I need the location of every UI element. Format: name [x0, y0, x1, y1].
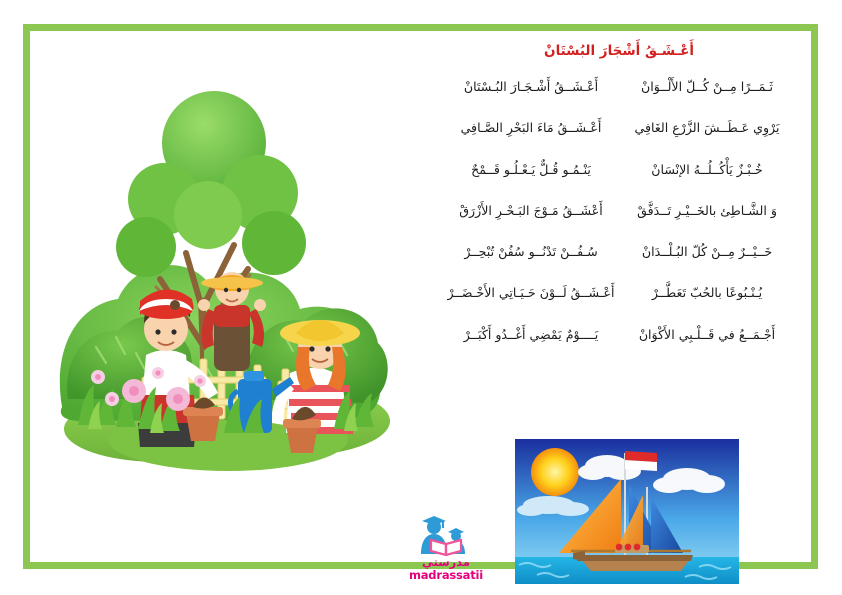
sun-icon	[531, 448, 579, 496]
poem-hemistich-first: أَعْشَــقُ مَـوْجَ البَـحْـرِ الأَزْرَقْ	[443, 203, 619, 219]
poem-title: أَعْـشَـقُ أَشْجَارَ البُسْتَانْ	[420, 43, 818, 59]
poem-hemistich-first: يَــــوْمٌ يَمْضِي أَغْــدُو أَكْبَــرْ	[443, 327, 619, 343]
poem-hemistich-second: وَ الشَّـاطِئ بالخَــيْـرِ تَــدَفَّقْ	[619, 203, 795, 219]
madrassatii-logo: مدرستي madrassatii	[382, 512, 510, 581]
logo-wordmark-latin: madrassatii	[382, 569, 510, 581]
poem-hemistich-first: يَنْـمُـو قُـلٌّ يَـعْـلُـو قَــمْحٌ	[443, 162, 619, 178]
poem-line: أَجْـمَــعُ في قَــلْـبِي الأَكْوَانْ يَ…	[420, 327, 818, 343]
poem-hemistich-second: أَجْـمَــعُ في قَــلْـبِي الأَكْوَانْ	[619, 327, 795, 343]
poem-hemistich-second: يُـنْـبُوعًا بالحُبّ تَعَطَّــرْ	[619, 285, 795, 301]
poem-line: ثَـمَــرًا مِــنْ كُــلّ الأَلْــوَانْ أ…	[420, 79, 818, 95]
poem-hemistich-first: أَعْـشَــقُ أَشْـجَـارَ البُـسْتَانْ	[443, 79, 619, 95]
poem-hemistich-first: أَعْـشَــقُ مَاءَ البَحْرِ الصَّـافِي	[443, 120, 619, 136]
poem-line: يَرْوِي عَـطَــشَ الزَّرْعِ الغَافِي أَع…	[420, 120, 818, 136]
poem-lines: ثَـمَــرًا مِــنْ كُــلّ الأَلْــوَانْ أ…	[420, 79, 818, 342]
garden-illustration	[38, 47, 410, 477]
sailboat-illustration	[515, 439, 739, 584]
poem-hemistich-second: يَرْوِي عَـطَــشَ الزَّرْعِ الغَافِي	[619, 120, 795, 136]
poem-line: يُـنْـبُوعًا بالحُبّ تَعَطَّــرْ أَعْـشَ…	[420, 285, 818, 301]
logo-wordmark-arabic: مدرستي	[382, 557, 510, 569]
poem-hemistich-first: سُـفُــنْ تَدْنُــو سُفُنْ تُبْحِــرْ	[443, 244, 619, 260]
poem-line: خُـبْـزٌ يَأْكُــلُــهُ الإنْسَانْ يَنْـ…	[420, 162, 818, 178]
poem-line: وَ الشَّـاطِئ بالخَــيْـرِ تَــدَفَّقْ أ…	[420, 203, 818, 219]
poem-hemistich-second: ثَـمَــرًا مِــنْ كُــلّ الأَلْــوَانْ	[619, 79, 795, 95]
page-frame: أَعْـشَـقُ أَشْجَارَ البُسْتَانْ ثَـمَــ…	[23, 24, 818, 569]
poem-hemistich-second: خَــيْــرٌ مِــنْ كُلّ البُـلْــدَانْ	[619, 244, 795, 260]
graduate-reader-icon	[417, 512, 475, 556]
poem-hemistich-first: أَعْـشَــقُ لَــوْنَ حَـيَـاتِي الأَخْـض…	[443, 285, 619, 301]
poem-hemistich-second: خُـبْـزٌ يَأْكُــلُــهُ الإنْسَانْ	[619, 162, 795, 178]
flag	[625, 451, 657, 471]
poem-line: خَــيْــرٌ مِــنْ كُلّ البُـلْــدَانْ سُ…	[420, 244, 818, 260]
